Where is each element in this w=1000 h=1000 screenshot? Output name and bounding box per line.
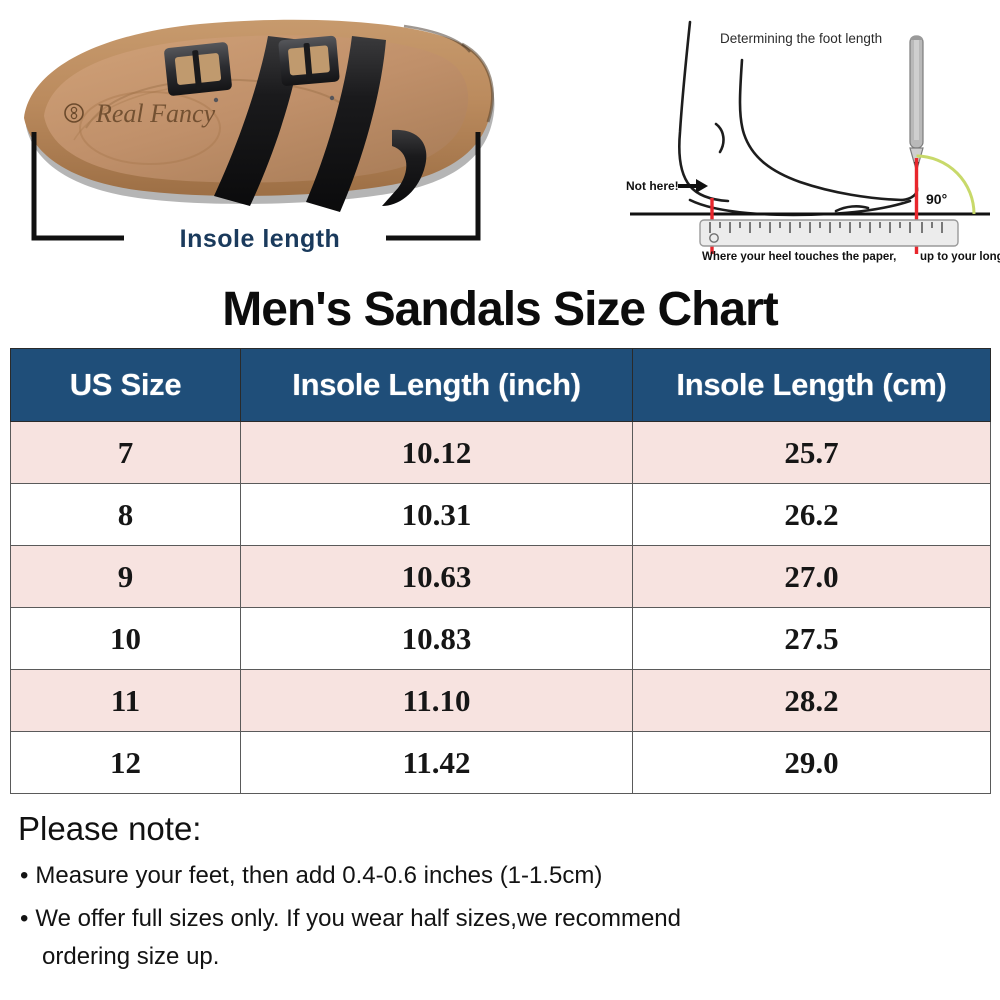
bullet-icon: • [20,862,28,889]
cell-us-size: 11 [11,670,241,732]
cell-cm: 28.2 [633,670,991,732]
table-row: 8 10.31 26.2 [11,484,991,546]
pencil-icon [910,36,923,172]
cell-inch: 10.83 [241,608,633,670]
cell-inch: 10.63 [241,546,633,608]
foot-outline [679,22,917,215]
table-row: 7 10.12 25.7 [11,422,991,484]
insole-length-label: Insole length [0,225,520,254]
buckle-rear [278,35,340,86]
cell-us-size: 7 [11,422,241,484]
table-header-row: US Size Insole Length (inch) Insole Leng… [11,349,991,422]
note-text: Measure your feet, then add 0.4-0.6 inch… [35,862,602,889]
cell-inch: 11.10 [241,670,633,732]
sandal-photo-panel: Real Fancy [0,0,520,280]
foot-diagram-svg: Determining the foot length Not [620,8,1000,270]
note-text: We offer full sizes only. If you wear ha… [35,905,681,932]
table-row: 12 11.42 29.0 [11,732,991,794]
column-header-inch: Insole Length (inch) [241,349,633,422]
cell-us-size: 10 [11,608,241,670]
cell-cm: 27.5 [633,608,991,670]
note-item: •We offer full sizes only. If you wear h… [18,900,978,974]
table-row: 9 10.63 27.0 [11,546,991,608]
table-row: 10 10.83 27.5 [11,608,991,670]
cell-us-size: 12 [11,732,241,794]
cell-inch: 11.42 [241,732,633,794]
column-header-cm: Insole Length (cm) [633,349,991,422]
cell-inch: 10.12 [241,422,633,484]
brand-logo-text: Real Fancy [95,99,216,128]
cell-cm: 26.2 [633,484,991,546]
cell-cm: 29.0 [633,732,991,794]
note-item: •Measure your feet, then add 0.4-0.6 inc… [18,857,978,894]
svg-text:Not here!: Not here! [626,179,679,193]
note-text-continuation: ordering size up. [20,938,978,975]
toe-caption: up to your longest toe. [920,251,1000,263]
table-row: 11 11.10 28.2 [11,670,991,732]
cell-us-size: 9 [11,546,241,608]
notes-section: Please note: •Measure your feet, then ad… [18,808,978,975]
cell-cm: 25.7 [633,422,991,484]
illustration-area: Real Fancy [0,0,1000,280]
page-title: Men's Sandals Size Chart [0,286,1000,334]
foot-measure-diagram: Determining the foot length Not [620,8,1000,270]
cell-inch: 10.31 [241,484,633,546]
bullet-icon: • [20,905,28,932]
size-table-wrapper: US Size Insole Length (inch) Insole Leng… [10,348,990,794]
angle-label: 90° [926,191,947,207]
ruler-icon [700,220,958,246]
buckle-front [164,42,233,96]
column-header-us-size: US Size [11,349,241,422]
notes-heading: Please note: [18,808,978,849]
foot-diagram-title: Determining the foot length [720,31,882,46]
cell-cm: 27.0 [633,546,991,608]
heel-caption: Where your heel touches the paper, [702,251,896,263]
cell-us-size: 8 [11,484,241,546]
size-chart-table: US Size Insole Length (inch) Insole Leng… [10,348,991,794]
